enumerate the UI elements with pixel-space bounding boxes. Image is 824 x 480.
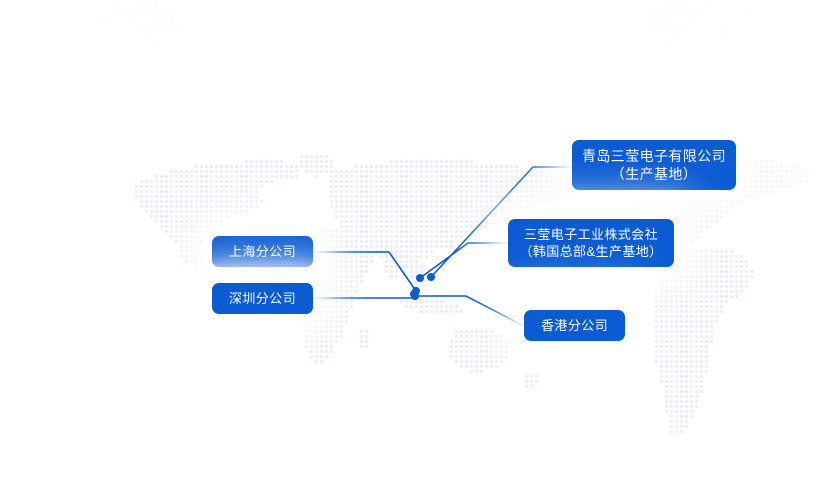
korea-marker[interactable] — [416, 274, 424, 282]
label-hongkong[interactable]: 香港分公司 — [524, 310, 625, 341]
world-map-infographic: 青岛三莹电子有限公司 （生产基地） 三莹电子工业株式会社 （韩国总部&生产基地）… — [0, 0, 824, 480]
label-korea-line2: （韩国总部&生产基地） — [519, 243, 662, 260]
shanghai-connector — [313, 252, 416, 291]
label-qingdao[interactable]: 青岛三莹电子有限公司 （生产基地） — [572, 140, 736, 190]
hongkong-connector — [415, 296, 524, 326]
label-shenzhen[interactable]: 深圳分公司 — [212, 283, 313, 314]
korea-connector — [420, 243, 508, 278]
label-qingdao-line2: （生产基地） — [611, 165, 697, 183]
connector-lines-layer — [0, 0, 824, 480]
qingdao-marker[interactable] — [427, 273, 435, 281]
label-korea-line1: 三莹电子工业株式会社 — [524, 226, 658, 243]
label-shenzhen-line1: 深圳分公司 — [229, 290, 296, 307]
label-hongkong-line1: 香港分公司 — [541, 317, 608, 334]
label-shanghai-line1: 上海分公司 — [229, 243, 296, 260]
label-korea-hq[interactable]: 三莹电子工业株式会社 （韩国总部&生产基地） — [508, 219, 674, 267]
hongkong-marker[interactable] — [411, 292, 419, 300]
label-qingdao-line1: 青岛三莹电子有限公司 — [582, 147, 726, 165]
label-shanghai[interactable]: 上海分公司 — [212, 236, 313, 267]
